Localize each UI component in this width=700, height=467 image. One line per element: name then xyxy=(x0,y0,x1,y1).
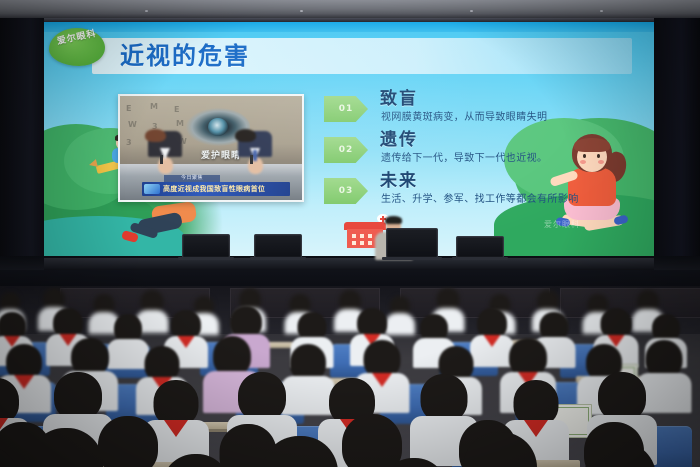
item-number-badge: 03 xyxy=(324,178,368,204)
news-ticker: 高度近视成我国致盲性眼病首位 xyxy=(142,182,290,196)
ticker-icon xyxy=(144,184,160,194)
item-title: 未来 xyxy=(380,170,418,192)
item-description: 遗传给下一代，导致下一代也近视。 xyxy=(381,152,547,166)
slide-title: 近视的危害 xyxy=(120,40,540,72)
presenter-laptop[interactable] xyxy=(386,228,438,258)
ticker-text: 高度近视成我国致盲性眼病首位 xyxy=(163,183,288,195)
wall-left-panel xyxy=(0,18,44,268)
laptop xyxy=(456,236,504,258)
ticker-headline-label: 今日聚焦 xyxy=(164,175,220,182)
slide-watermark: 爱尔眼科 xyxy=(544,219,580,230)
item-description: 生活、升学、参军、找工作等都会有所影响 xyxy=(381,193,579,207)
item-description: 视网膜黄斑病变，从而导致眼睛失明 xyxy=(381,111,547,125)
ceiling-light xyxy=(145,10,148,12)
audience-area xyxy=(0,286,700,467)
ceiling-light xyxy=(300,10,303,12)
list-item: 02 遗传 遗传给下一代，导致下一代也近视。 xyxy=(324,133,634,171)
item-number-badge: 01 xyxy=(324,96,368,122)
eye-pupil xyxy=(208,118,228,136)
slide-top-band xyxy=(44,22,654,32)
ceiling-light xyxy=(470,10,473,12)
list-item: 03 未来 生活、升学、参军、找工作等都会有所影响 xyxy=(324,174,634,212)
laptop xyxy=(254,234,302,258)
item-number-badge: 02 xyxy=(324,137,368,163)
ceiling-light xyxy=(600,10,603,12)
brand-badge: 爱尔眼科 xyxy=(49,28,105,66)
item-title: 遗传 xyxy=(380,129,418,151)
news-anchor-male xyxy=(238,133,272,174)
presentation-screen: 爱尔眼科 近视的危害 爱尔眼科 E M E W 3 M 3 E W 爱护眼睛 xyxy=(44,22,654,256)
list-item: 01 致盲 视网膜黄斑病变，从而导致眼睛失明 xyxy=(324,92,634,130)
auditorium-scene: 爱尔眼科 近视的危害 爱尔眼科 E M E W 3 M 3 E W 爱护眼睛 xyxy=(0,0,700,467)
news-anchor-female xyxy=(148,133,182,174)
harm-list: 01 致盲 视网膜黄斑病变，从而导致眼睛失明 02 遗传 遗传给下一代，导致下一… xyxy=(324,92,634,215)
laptop xyxy=(182,234,230,258)
item-title: 致盲 xyxy=(380,88,418,110)
wall-right-panel xyxy=(654,18,700,268)
news-video-thumbnail: E M E W 3 M 3 E W 爱护眼睛 今日聚焦 xyxy=(118,94,304,202)
